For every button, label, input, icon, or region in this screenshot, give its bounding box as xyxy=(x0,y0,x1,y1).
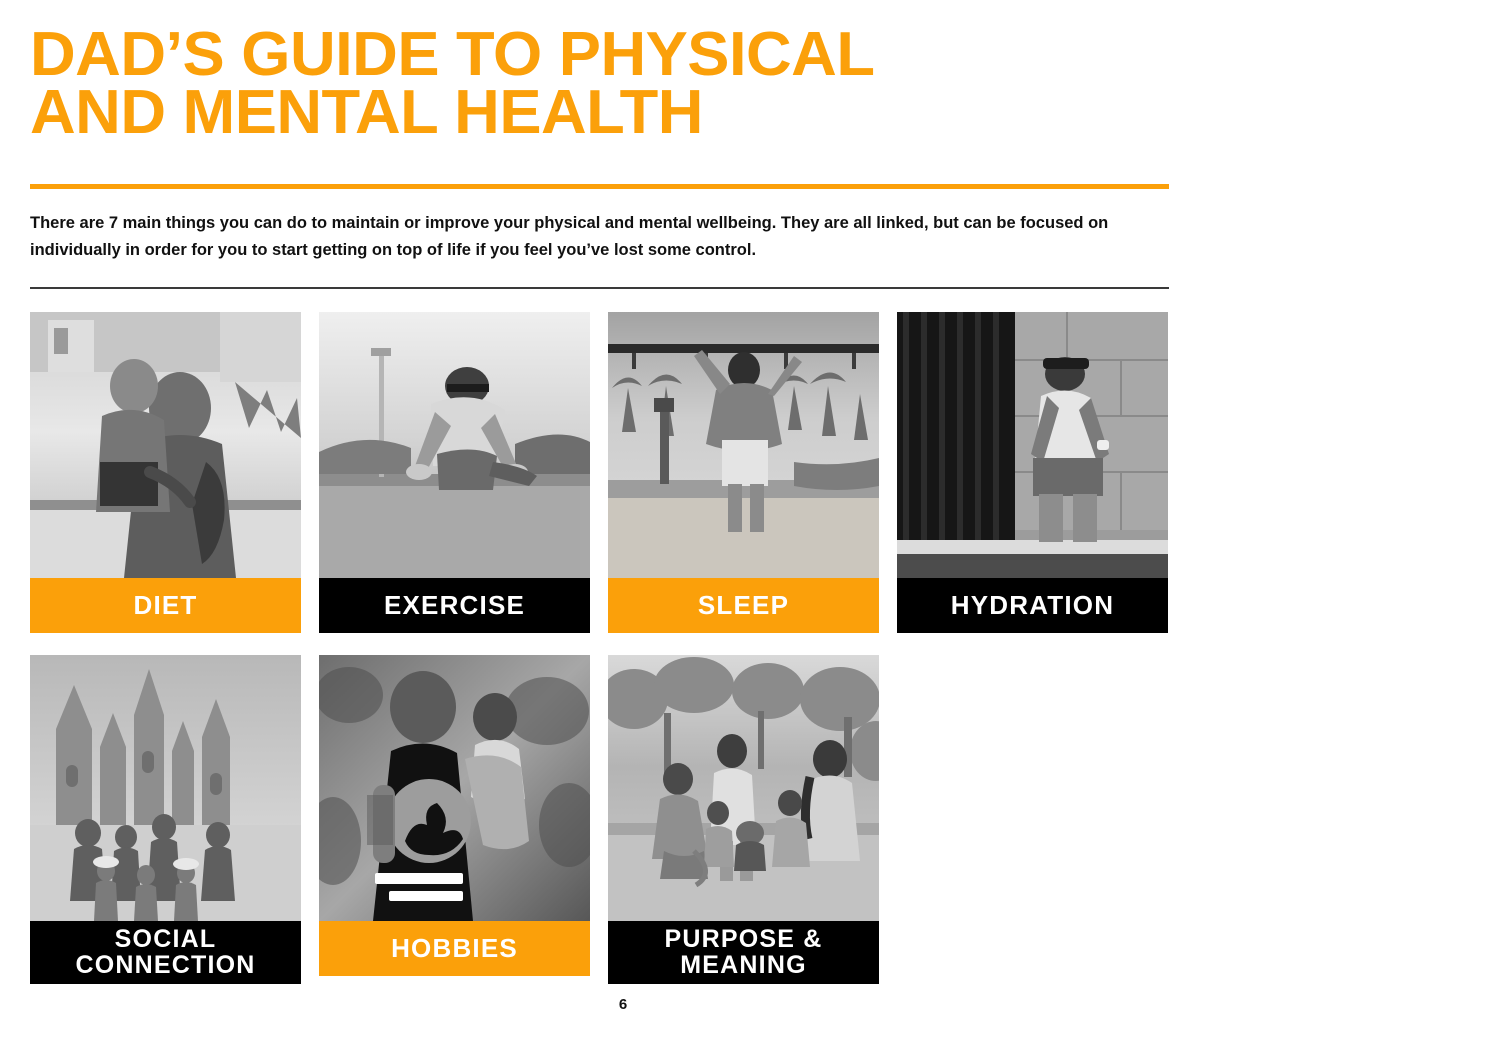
page-title-line-2: AND MENTAL HEALTH xyxy=(30,84,1254,142)
photo-dad-carrying-baby-fit-dad-lifestyle-shirt xyxy=(319,655,590,921)
intro-paragraph: There are 7 main things you can do to ma… xyxy=(30,210,1140,263)
card-hobbies[interactable]: HOBBIES xyxy=(319,655,590,984)
card-label-text: HOBBIES xyxy=(391,935,518,962)
card-label-text: PURPOSE & MEANING xyxy=(664,927,822,978)
card-label-purpose-meaning: PURPOSE & MEANING xyxy=(608,921,879,984)
card-purpose-meaning[interactable]: PURPOSE & MEANING xyxy=(608,655,879,984)
card-label-social-connection: SOCIAL CONNECTION xyxy=(30,921,301,984)
page-title: DAD’S GUIDE TO PHYSICAL AND MENTAL HEALT… xyxy=(30,26,1230,141)
photo-man-in-tank-top-sitting-on-bench xyxy=(897,312,1168,578)
card-label-text: SOCIAL CONNECTION xyxy=(75,927,255,978)
card-label-hobbies: HOBBIES xyxy=(319,921,590,976)
photo-family-at-theme-park-castle xyxy=(30,655,301,921)
card-sleep[interactable]: SLEEP xyxy=(608,312,879,633)
page-number: 6 xyxy=(0,996,1496,1013)
card-hydration[interactable]: HYDRATION xyxy=(897,312,1168,633)
photo-man-doing-pushups-on-road xyxy=(319,312,590,578)
card-label-hydration: HYDRATION xyxy=(897,578,1168,633)
photo-father-holding-son-by-pool xyxy=(30,312,301,578)
page-title-line-1: DAD’S GUIDE TO PHYSICAL xyxy=(30,26,1254,84)
photo-man-doing-pullups-on-beach-bar xyxy=(608,312,879,578)
card-label-sleep: SLEEP xyxy=(608,578,879,633)
card-exercise[interactable]: EXERCISE xyxy=(319,312,590,633)
page-canvas: DAD’S GUIDE TO PHYSICAL AND MENTAL HEALT… xyxy=(0,0,1496,1052)
page-number-value: 6 xyxy=(619,996,627,1013)
card-label-text: HYDRATION xyxy=(951,592,1114,619)
photo-family-with-dog-outdoors xyxy=(608,655,879,921)
card-label-exercise: EXERCISE xyxy=(319,578,590,633)
orange-divider-rule xyxy=(30,184,1169,189)
grid-row-1: DIET xyxy=(30,312,1170,633)
card-label-diet: DIET xyxy=(30,578,301,633)
card-label-text: SLEEP xyxy=(698,592,789,619)
card-diet[interactable]: DIET xyxy=(30,312,301,633)
card-label-text: EXERCISE xyxy=(384,592,525,619)
dark-divider-rule xyxy=(30,287,1169,289)
card-social-connection[interactable]: SOCIAL CONNECTION xyxy=(30,655,301,984)
health-pillars-grid: DIET xyxy=(30,312,1170,984)
grid-row-2: SOCIAL CONNECTION xyxy=(30,655,1170,984)
card-label-text: DIET xyxy=(133,592,197,619)
